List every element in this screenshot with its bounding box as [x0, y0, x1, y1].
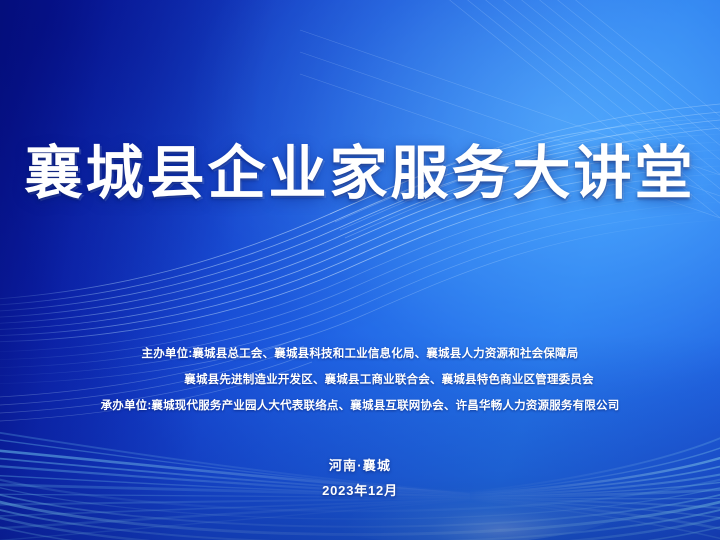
event-poster: 襄城县企业家服务大讲堂 主办单位:襄城县总工会、襄城县科技和工业信息化局、襄城县… [0, 0, 720, 540]
organizer-line-coorganizer: 承办单位:襄城现代服务产业园人大代表联络点、襄城县互联网协会、许昌华畅人力资源服… [0, 393, 720, 419]
title-block: 襄城县企业家服务大讲堂 [0, 139, 720, 209]
organizer-line-host: 主办单位:襄城县总工会、襄城县科技和工业信息化局、襄城县人力资源和社会保障局 [0, 341, 720, 367]
organizer-block: 主办单位:襄城县总工会、襄城县科技和工业信息化局、襄城县人力资源和社会保障局 襄… [0, 341, 720, 419]
footer-date: 2023年12月 [0, 478, 720, 503]
footer-location: 河南·襄城 [0, 453, 720, 478]
footer-block: 河南·襄城 2023年12月 [0, 453, 720, 503]
poster-title: 襄城县企业家服务大讲堂 [24, 139, 695, 209]
organizer-line-host-cont: 襄城县先进制造业开发区、襄城县工商业联合会、襄城县特色商业区管理委员会 [0, 367, 720, 393]
